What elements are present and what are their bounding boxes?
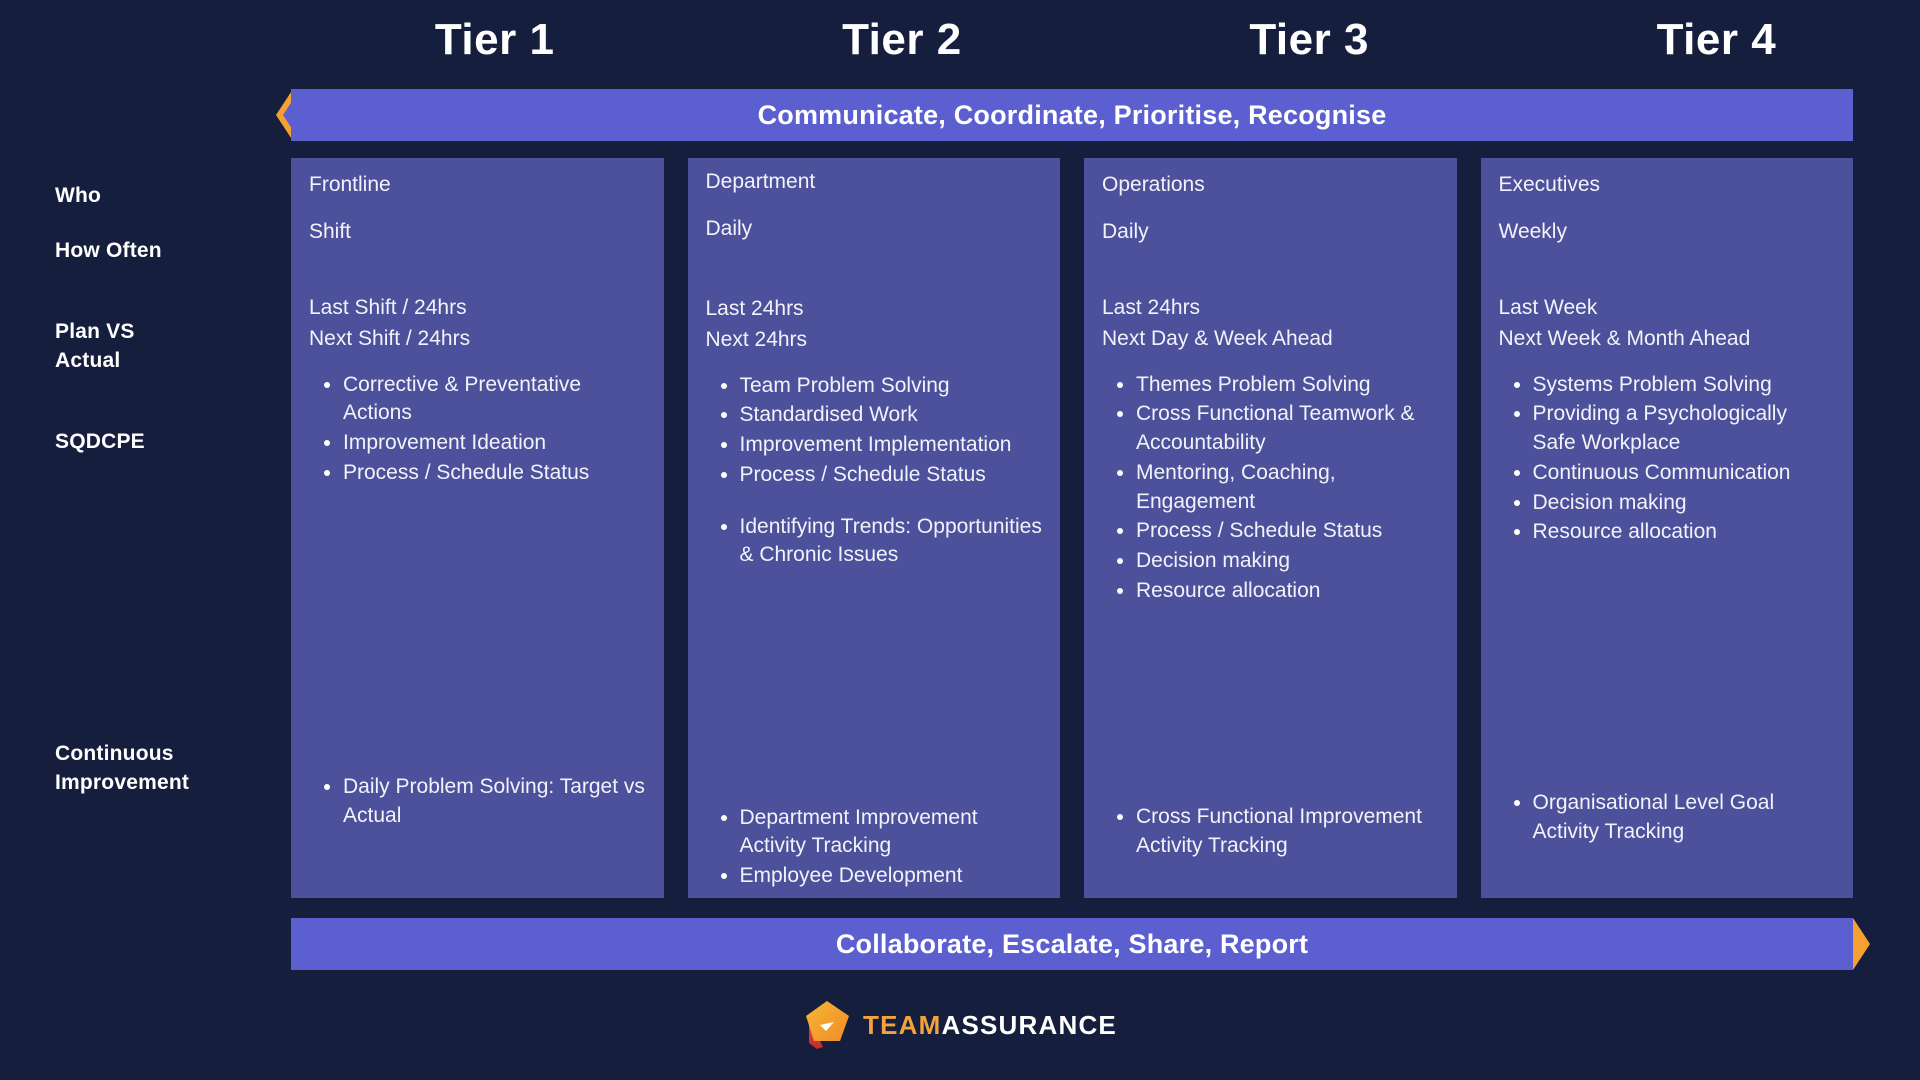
tier-3-continuous-improvement-block: Cross Functional Improvement Activity Tr… (1102, 803, 1439, 862)
spacer (309, 355, 646, 371)
row-label-continuous-improvement-line1: Continuous (55, 740, 189, 769)
list-item: Continuous Communication (1533, 459, 1836, 488)
tier-3-how-often: Daily (1102, 217, 1439, 248)
tier-column-2: Department Daily Last 24hrs Next 24hrs T… (688, 158, 1061, 898)
spacer (1102, 247, 1439, 293)
list-item: Organisational Level Goal Activity Track… (1533, 789, 1836, 847)
tier-3-who: Operations (1102, 170, 1439, 201)
list-item: Team Problem Solving (740, 372, 1043, 401)
spacer (706, 244, 1043, 294)
tier-1-sqdcpe-list: Corrective & Preventative Actions Improv… (309, 371, 646, 488)
list-item: Mentoring, Coaching, Engagement (1136, 459, 1439, 517)
tier-4-plan-line2: Next Week & Month Ahead (1499, 324, 1836, 355)
row-label-sqdcpe: SQDCPE (55, 428, 145, 457)
row-label-plan-vs-actual-line2: Actual (55, 347, 135, 376)
spacer (1499, 355, 1836, 371)
banner-right-arrow-icon (1853, 918, 1870, 970)
tier-column-3: Operations Daily Last 24hrs Next Day & W… (1084, 158, 1457, 898)
list-item: Department Improvement Activity Tracking (740, 804, 1043, 862)
tier-2-sqdcpe-extra-list: Identifying Trends: Opportunities & Chro… (706, 513, 1043, 571)
tier-2-sqdcpe-list: Team Problem Solving Standardised Work I… (706, 372, 1043, 490)
tier-columns: Frontline Shift Last Shift / 24hrs Next … (291, 158, 1853, 898)
tier-2-who: Department (706, 167, 1043, 198)
tier-4-continuous-improvement-list: Organisational Level Goal Activity Track… (1499, 789, 1836, 847)
list-item: Employee Development (740, 862, 1043, 891)
tier-2-plan-line1: Last 24hrs (706, 294, 1043, 325)
list-item: Daily Problem Solving: Target vs Actual (343, 773, 646, 831)
tier-2-how-often: Daily (706, 214, 1043, 245)
tier-1-plan-line1: Last Shift / 24hrs (309, 293, 646, 324)
tier-4-plan-line1: Last Week (1499, 293, 1836, 324)
tier-3-plan-line2: Next Day & Week Ahead (1102, 324, 1439, 355)
list-item: Resource allocation (1533, 518, 1836, 547)
list-item: Process / Schedule Status (343, 459, 646, 488)
tier-header-3: Tier 3 (1106, 18, 1513, 62)
row-label-column: Who How Often Plan VS Actual SQDCPE Cont… (0, 152, 291, 898)
list-item: Identifying Trends: Opportunities & Chro… (740, 513, 1043, 571)
tier-2-continuous-improvement-block: Department Improvement Activity Tracking… (706, 804, 1043, 892)
bottom-banner: Collaborate, Escalate, Share, Report (291, 918, 1853, 970)
spacer (706, 356, 1043, 372)
tier-column-1: Frontline Shift Last Shift / 24hrs Next … (291, 158, 664, 898)
list-item: Decision making (1533, 489, 1836, 518)
list-item: Process / Schedule Status (1136, 517, 1439, 546)
row-label-continuous-improvement: Continuous Improvement (55, 740, 189, 798)
list-item: Improvement Ideation (343, 429, 646, 458)
row-label-plan-vs-actual-line1: Plan VS (55, 318, 135, 347)
top-banner: Communicate, Coordinate, Prioritise, Rec… (291, 89, 1853, 141)
spacer (309, 247, 646, 293)
spacer (309, 201, 646, 217)
spacer (1499, 201, 1836, 217)
row-label-plan-vs-actual: Plan VS Actual (55, 318, 135, 376)
list-item: Improvement Implementation (740, 431, 1043, 460)
list-item: Process / Schedule Status (740, 461, 1043, 490)
tier-1-continuous-improvement-list: Daily Problem Solving: Target vs Actual (309, 773, 646, 831)
spacer (1102, 201, 1439, 217)
tier-header-2: Tier 2 (698, 18, 1105, 62)
tier-4-sqdcpe-list: Systems Problem Solving Providing a Psyc… (1499, 371, 1836, 548)
tier-4-how-often: Weekly (1499, 217, 1836, 248)
tier-4-who: Executives (1499, 170, 1836, 201)
list-item: Providing a Psychologically Safe Workpla… (1533, 400, 1836, 458)
spacer (706, 491, 1043, 513)
spacer (1102, 355, 1439, 371)
list-item: Cross Functional Teamwork & Accountabili… (1136, 400, 1439, 458)
footer-logo: TEAMASSURANCE (0, 990, 1920, 1060)
row-label-continuous-improvement-line2: Improvement (55, 769, 189, 798)
tier-3-continuous-improvement-list: Cross Functional Improvement Activity Tr… (1102, 803, 1439, 861)
row-label-how-often: How Often (55, 237, 162, 266)
list-item: Themes Problem Solving (1136, 371, 1439, 400)
list-item: Decision making (1136, 547, 1439, 576)
logo-wordmark: TEAMASSURANCE (863, 1012, 1117, 1038)
tier-2-continuous-improvement-list: Department Improvement Activity Tracking… (706, 804, 1043, 891)
tier-3-plan-line1: Last 24hrs (1102, 293, 1439, 324)
tier-1-plan-line2: Next Shift / 24hrs (309, 324, 646, 355)
tier-header-4: Tier 4 (1513, 18, 1920, 62)
tier-column-4: Executives Weekly Last Week Next Week & … (1481, 158, 1854, 898)
list-item: Standardised Work (740, 401, 1043, 430)
tier-1-how-often: Shift (309, 217, 646, 248)
tier-header-1: Tier 1 (291, 18, 698, 62)
tier-header-row: Tier 1 Tier 2 Tier 3 Tier 4 (0, 0, 1920, 80)
list-item: Cross Functional Improvement Activity Tr… (1136, 803, 1439, 861)
tier-1-continuous-improvement-block: Daily Problem Solving: Target vs Actual (309, 773, 646, 832)
teamassurance-logo-icon (803, 999, 851, 1051)
spacer (706, 198, 1043, 214)
list-item: Corrective & Preventative Actions (343, 371, 646, 429)
tier-2-plan-line2: Next 24hrs (706, 325, 1043, 356)
tier-4-continuous-improvement-block: Organisational Level Goal Activity Track… (1499, 789, 1836, 848)
list-item: Systems Problem Solving (1533, 371, 1836, 400)
logo-team-text: TEAM (863, 1010, 941, 1040)
tier-3-sqdcpe-list: Themes Problem Solving Cross Functional … (1102, 371, 1439, 606)
row-label-who: Who (55, 182, 101, 211)
tier-1-who: Frontline (309, 170, 646, 201)
list-item: Resource allocation (1136, 577, 1439, 606)
logo-assurance-text: ASSURANCE (941, 1010, 1116, 1040)
spacer (1499, 247, 1836, 293)
